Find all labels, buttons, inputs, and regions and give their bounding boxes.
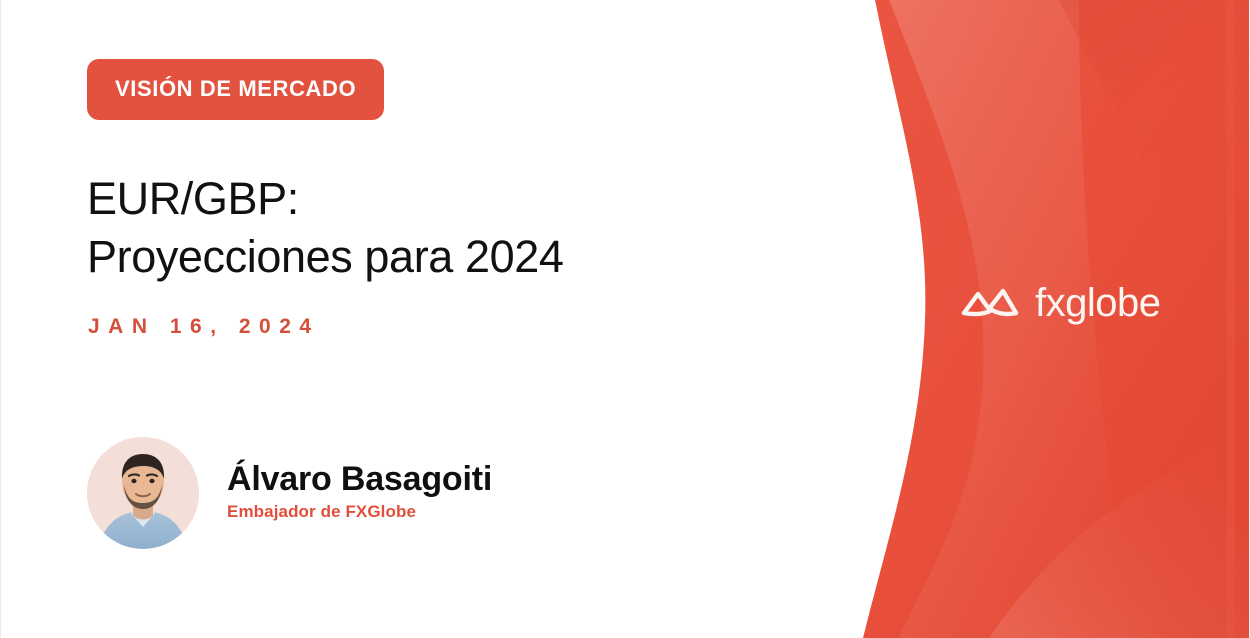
page-title-line-2: Proyecciones para 2024: [87, 228, 747, 286]
content-column: VISIÓN DE MERCADO EUR/GBP: Proyecciones …: [87, 0, 787, 638]
author-role: Embajador de FXGlobe: [227, 503, 492, 520]
author-block: Álvaro Basagoiti Embajador de FXGlobe: [87, 437, 492, 549]
fxglobe-logo: fxglobe: [961, 283, 1160, 323]
page-title: EUR/GBP: Proyecciones para 2024: [87, 170, 747, 285]
market-view-banner: fxglobe VISIÓN DE MERCADO EUR/GBP: Proye…: [0, 0, 1250, 638]
author-text: Álvaro Basagoiti Embajador de FXGlobe: [227, 462, 492, 524]
author-name: Álvaro Basagoiti: [227, 462, 492, 496]
category-badge: VISIÓN DE MERCADO: [87, 59, 384, 120]
publish-date: JAN 16, 2024: [88, 316, 320, 337]
fxglobe-wordmark: fxglobe: [1035, 283, 1160, 323]
mountain-peaks-icon: [961, 286, 1019, 320]
page-title-line-1: EUR/GBP:: [87, 170, 747, 228]
avatar: [87, 437, 199, 549]
avatar-photo-icon: [87, 437, 199, 549]
